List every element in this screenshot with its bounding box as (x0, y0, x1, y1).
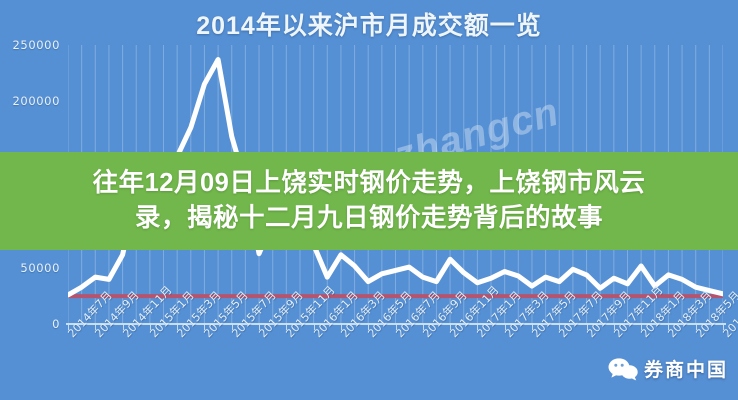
y-axis-tick-label: 200000 (13, 94, 61, 108)
chart-image: 2014年以来沪市月成交额一览 050000100000150000200000… (0, 0, 738, 400)
overlay-headline: 往年12月09日上饶实时钢价走势，上饶钢市风云 录，揭秘十二月九日钢价走势背后的… (0, 152, 738, 250)
y-axis-tick-label: 50000 (20, 261, 60, 275)
wechat-icon (608, 357, 638, 381)
chart-title: 2014年以来沪市月成交额一览 (0, 6, 738, 42)
overlay-headline-line-2: 录，揭秘十二月九日钢价走势背后的故事 (135, 202, 603, 235)
y-axis-tick-label: 250000 (13, 38, 61, 52)
brand-label: 券商中国 (644, 355, 728, 382)
brand-badge: 券商中国 (608, 355, 728, 382)
overlay-headline-line-1: 往年12月09日上饶实时钢价走势，上饶钢市风云 (93, 167, 646, 200)
